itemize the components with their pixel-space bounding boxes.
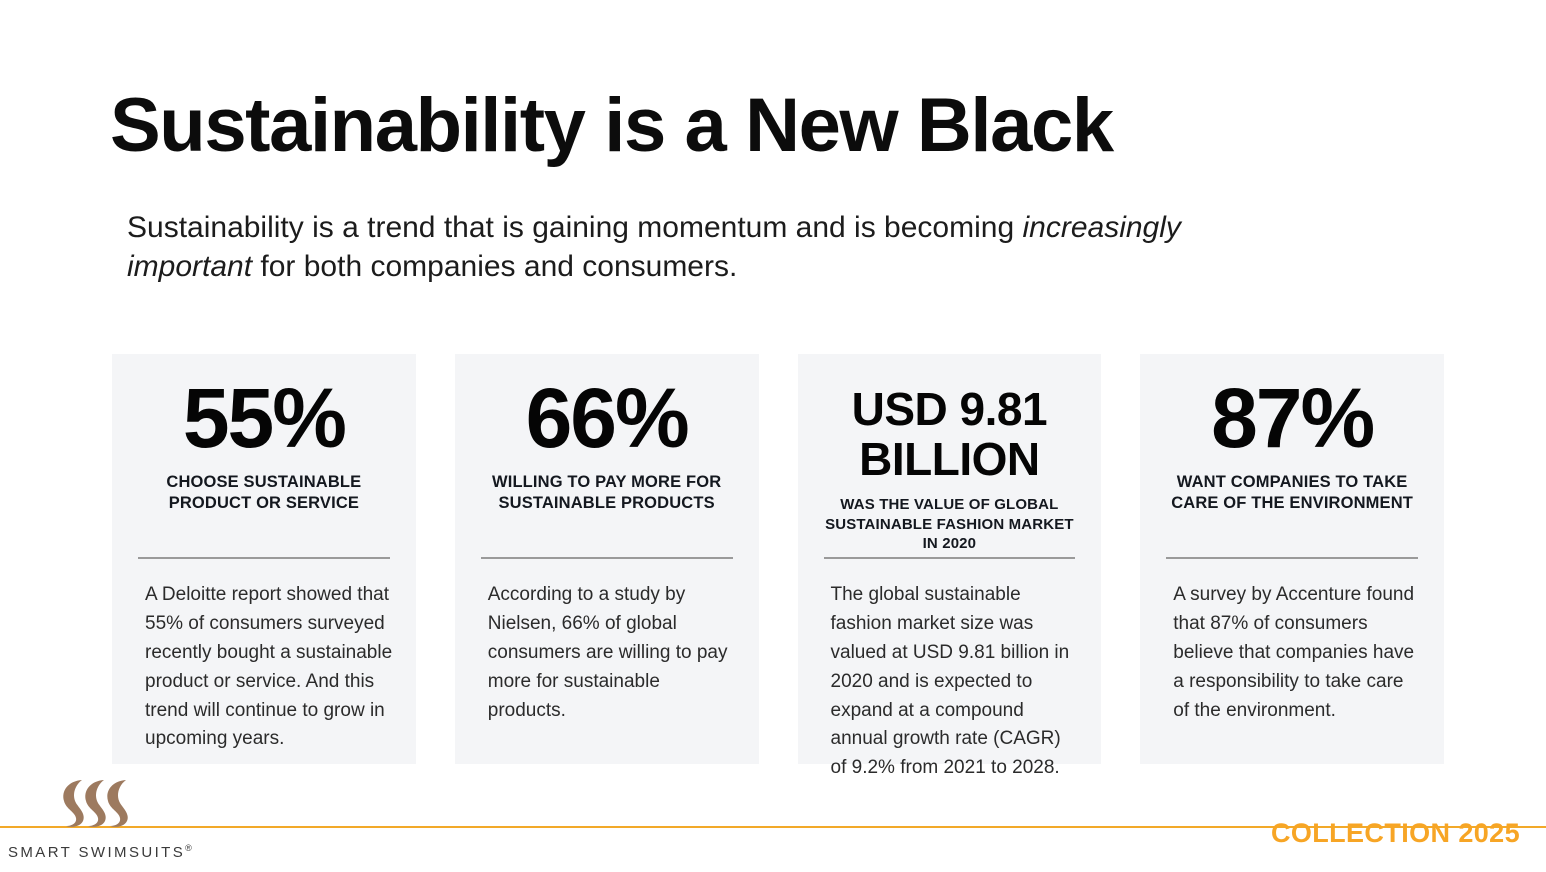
stat-caption: WILLING TO PAY MORE FOR SUSTAINABLE PROD… [473,472,741,514]
page-title: Sustainability is a New Black [110,86,1113,166]
stat-description: According to a study by Nielsen, 66% of … [488,581,737,725]
stat-caption: CHOOSE SUSTAINABLE PRODUCT OR SERVICE [130,472,398,514]
stat-value: 55% [183,376,345,460]
stat-card: USD 9.81 BILLION WAS THE VALUE OF GLOBAL… [798,354,1102,764]
stat-description: The global sustainable fashion market si… [831,581,1080,783]
stat-card: 66% WILLING TO PAY MORE FOR SUSTAINABLE … [455,354,759,764]
brand-name: SMART SWIMSUITS® [8,843,192,861]
page-subtitle: Sustainability is a trend that is gainin… [127,208,1227,286]
card-divider [1166,557,1418,559]
stat-caption: WANT COMPANIES TO TAKE CARE OF THE ENVIR… [1158,472,1426,514]
stat-card: 87% WANT COMPANIES TO TAKE CARE OF THE E… [1140,354,1444,764]
stat-card-row: 55% CHOOSE SUSTAINABLE PRODUCT OR SERVIC… [112,354,1444,764]
stat-value: 66% [526,376,688,460]
registered-mark-icon: ® [185,843,192,853]
stat-value: 87% [1211,376,1373,460]
card-divider [138,557,390,559]
card-divider [824,557,1076,559]
stat-description: A survey by Accenture found that 87% of … [1173,581,1422,725]
card-divider [481,557,733,559]
brand-name-text: SMART SWIMSUITS [8,844,185,861]
stat-value: USD 9.81 BILLION [816,384,1084,484]
subtitle-text-part-1: Sustainability is a trend that is gainin… [127,211,1022,244]
stat-description: A Deloitte report showed that 55% of con… [145,581,394,754]
collection-label: COLLECTION 2025 [1271,818,1520,849]
triple-s-swoosh-logo-icon [58,779,144,829]
subtitle-text-part-2: for both companies and consumers. [252,250,737,283]
stat-card: 55% CHOOSE SUSTAINABLE PRODUCT OR SERVIC… [112,354,416,764]
stat-caption: WAS THE VALUE OF GLOBAL SUSTAINABLE FASH… [816,495,1084,554]
